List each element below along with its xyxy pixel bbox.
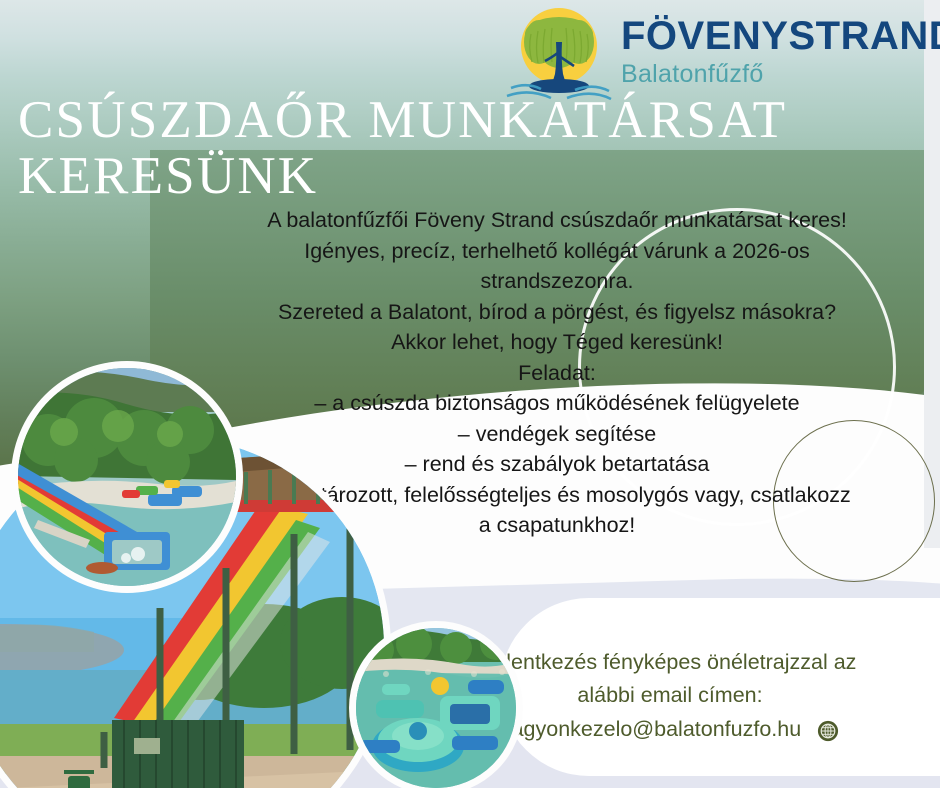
photo-inflatable-waterpark xyxy=(356,628,516,788)
body-line: Feladat: xyxy=(176,358,938,389)
body-line: – a csúszda biztonságos működésének felü… xyxy=(176,388,938,419)
contact-email[interactable]: vagyonkezelo@balatonfuzfo.hu xyxy=(501,713,801,746)
willow-tree-sun-logo-icon xyxy=(505,4,613,102)
body-line: Szereted a Balatont, bírod a pörgést, és… xyxy=(176,297,938,328)
body-line: Igényes, precíz, terhelhető kollégát vár… xyxy=(176,236,938,267)
headline-line-2: KERESÜNK xyxy=(18,148,848,204)
body-line: – vendégek segítése xyxy=(176,419,938,450)
footer-line-1: Jelentkezés fényképes önéletrajzzal az xyxy=(440,646,900,679)
globe-icon xyxy=(817,719,839,741)
headline-line-1: CSÚSZDAŐR MUNKATÁRSAT xyxy=(18,92,848,148)
job-ad-poster: FÖVENYSTRAND Balatonfűzfő CSÚSZDAŐR MUNK… xyxy=(0,0,940,788)
body-line: A balatonfűzfői Föveny Strand csúszdaőr … xyxy=(176,205,938,236)
logo-wordmark: FÖVENYSTRAND Balatonfűzfő xyxy=(621,16,940,87)
body-line: Akkor lehet, hogy Téged keresünk! xyxy=(176,327,938,358)
logo-subtitle: Balatonfűzfő xyxy=(621,62,940,87)
body-line: strandszezonra. xyxy=(176,266,938,297)
page-title: CSÚSZDAŐR MUNKATÁRSAT KERESÜNK xyxy=(18,92,848,204)
photo-aerial-beach-waterslide xyxy=(18,368,236,586)
logo-title: FÖVENYSTRAND xyxy=(621,16,940,56)
brand-logo: FÖVENYSTRAND Balatonfűzfő xyxy=(505,4,935,104)
